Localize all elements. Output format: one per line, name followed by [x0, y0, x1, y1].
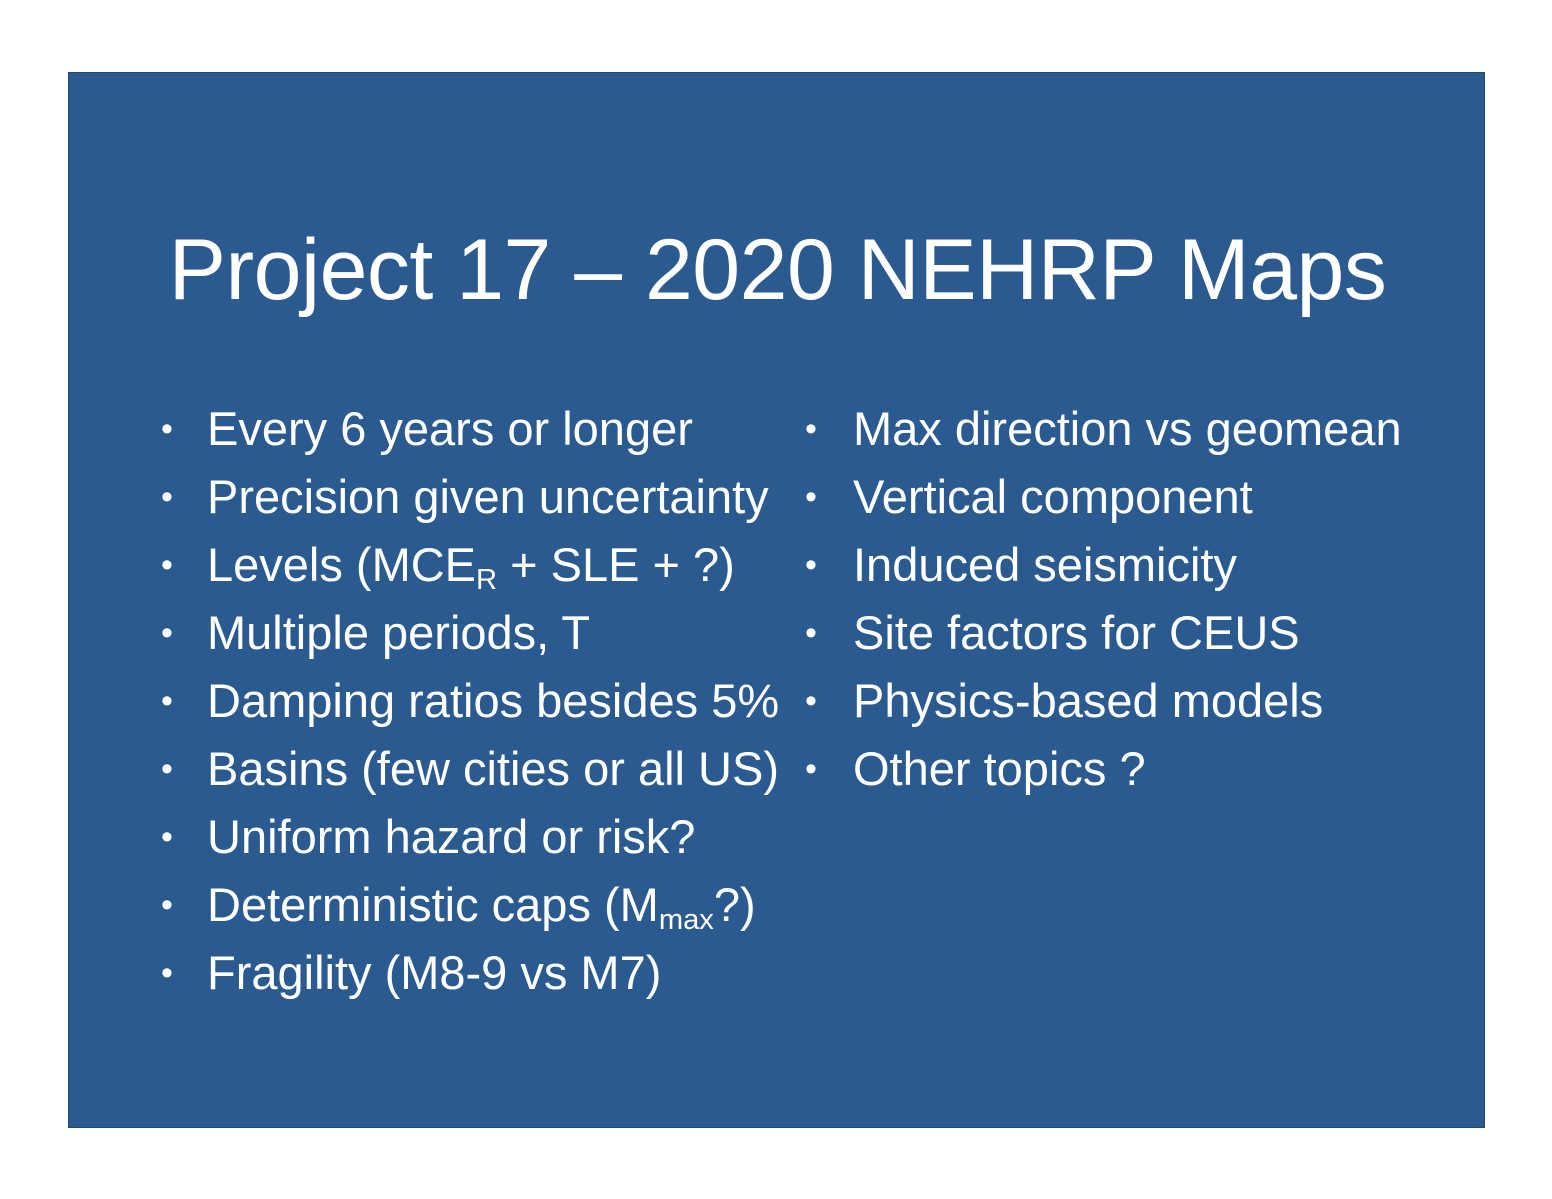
bullet-item: •Site factors for CEUS	[805, 599, 1465, 667]
bullet-item: •Multiple periods, T	[157, 599, 817, 667]
bullet-point-icon: •	[805, 667, 853, 735]
bullet-item-label: Uniform hazard or risk?	[207, 803, 695, 871]
bullet-point-icon: •	[157, 667, 207, 735]
bullet-list-left: •Every 6 years or longer•Precision given…	[157, 395, 817, 1007]
bullet-item-label: Every 6 years or longer	[207, 395, 693, 463]
bullet-item-label: Precision given uncertainty	[207, 463, 769, 531]
bullet-list-right: •Max direction vs geomean•Vertical compo…	[805, 395, 1465, 803]
bullet-item: •Every 6 years or longer	[157, 395, 817, 463]
slide-title: Project 17 – 2020 NEHRP Maps	[69, 225, 1485, 315]
slide-content-panel: Project 17 – 2020 NEHRP Maps •Every 6 ye…	[68, 72, 1485, 1128]
bullet-item-label: Max direction vs geomean	[853, 395, 1402, 463]
bullet-item-label: Damping ratios besides 5%	[207, 667, 779, 735]
bullet-item: •Basins (few cities or all US)	[157, 735, 817, 803]
bullet-item: •Damping ratios besides 5%	[157, 667, 817, 735]
bullet-item: •Precision given uncertainty	[157, 463, 817, 531]
bullet-point-icon: •	[157, 803, 207, 871]
bullet-point-icon: •	[157, 939, 207, 1007]
bullet-item-label: Deterministic caps (Mmax?)	[207, 871, 756, 946]
slide-canvas: Project 17 – 2020 NEHRP Maps •Every 6 ye…	[0, 0, 1552, 1199]
bullet-item-label: Levels (MCER + SLE + ?)	[207, 531, 735, 606]
subscript-text: max	[659, 904, 714, 936]
bullet-item: •Uniform hazard or risk?	[157, 803, 817, 871]
bullet-item-label: Site factors for CEUS	[853, 599, 1300, 667]
bullet-point-icon: •	[157, 463, 207, 531]
bullet-item-label: Physics-based models	[853, 667, 1323, 735]
bullet-item: •Fragility (M8-9 vs M7)	[157, 939, 817, 1007]
bullet-point-icon: •	[805, 531, 853, 599]
bullet-point-icon: •	[157, 531, 207, 599]
bullet-point-icon: •	[157, 395, 207, 463]
bullet-item-label: Other topics ?	[853, 735, 1146, 803]
bullet-item: •Physics-based models	[805, 667, 1465, 735]
bullet-point-icon: •	[805, 735, 853, 803]
bullet-point-icon: •	[805, 463, 853, 531]
bullet-item: •Induced seismicity	[805, 531, 1465, 599]
bullet-point-icon: •	[805, 599, 853, 667]
bullet-item-label: Basins (few cities or all US)	[207, 735, 779, 803]
bullet-point-icon: •	[157, 735, 207, 803]
subscript-text: R	[476, 564, 497, 596]
bullet-item-label: Fragility (M8-9 vs M7)	[207, 939, 661, 1007]
bullet-item-label: Vertical component	[853, 463, 1253, 531]
bullet-point-icon: •	[805, 395, 853, 463]
bullet-item-label: Multiple periods, T	[207, 599, 590, 667]
bullet-item-label: Induced seismicity	[853, 531, 1237, 599]
bullet-item: •Max direction vs geomean	[805, 395, 1465, 463]
bullet-item: •Deterministic caps (Mmax?)	[157, 871, 817, 939]
bullet-item: •Vertical component	[805, 463, 1465, 531]
bullet-item: •Other topics ?	[805, 735, 1465, 803]
bullet-point-icon: •	[157, 599, 207, 667]
bullet-item: •Levels (MCER + SLE + ?)	[157, 531, 817, 599]
bullet-point-icon: •	[157, 871, 207, 939]
